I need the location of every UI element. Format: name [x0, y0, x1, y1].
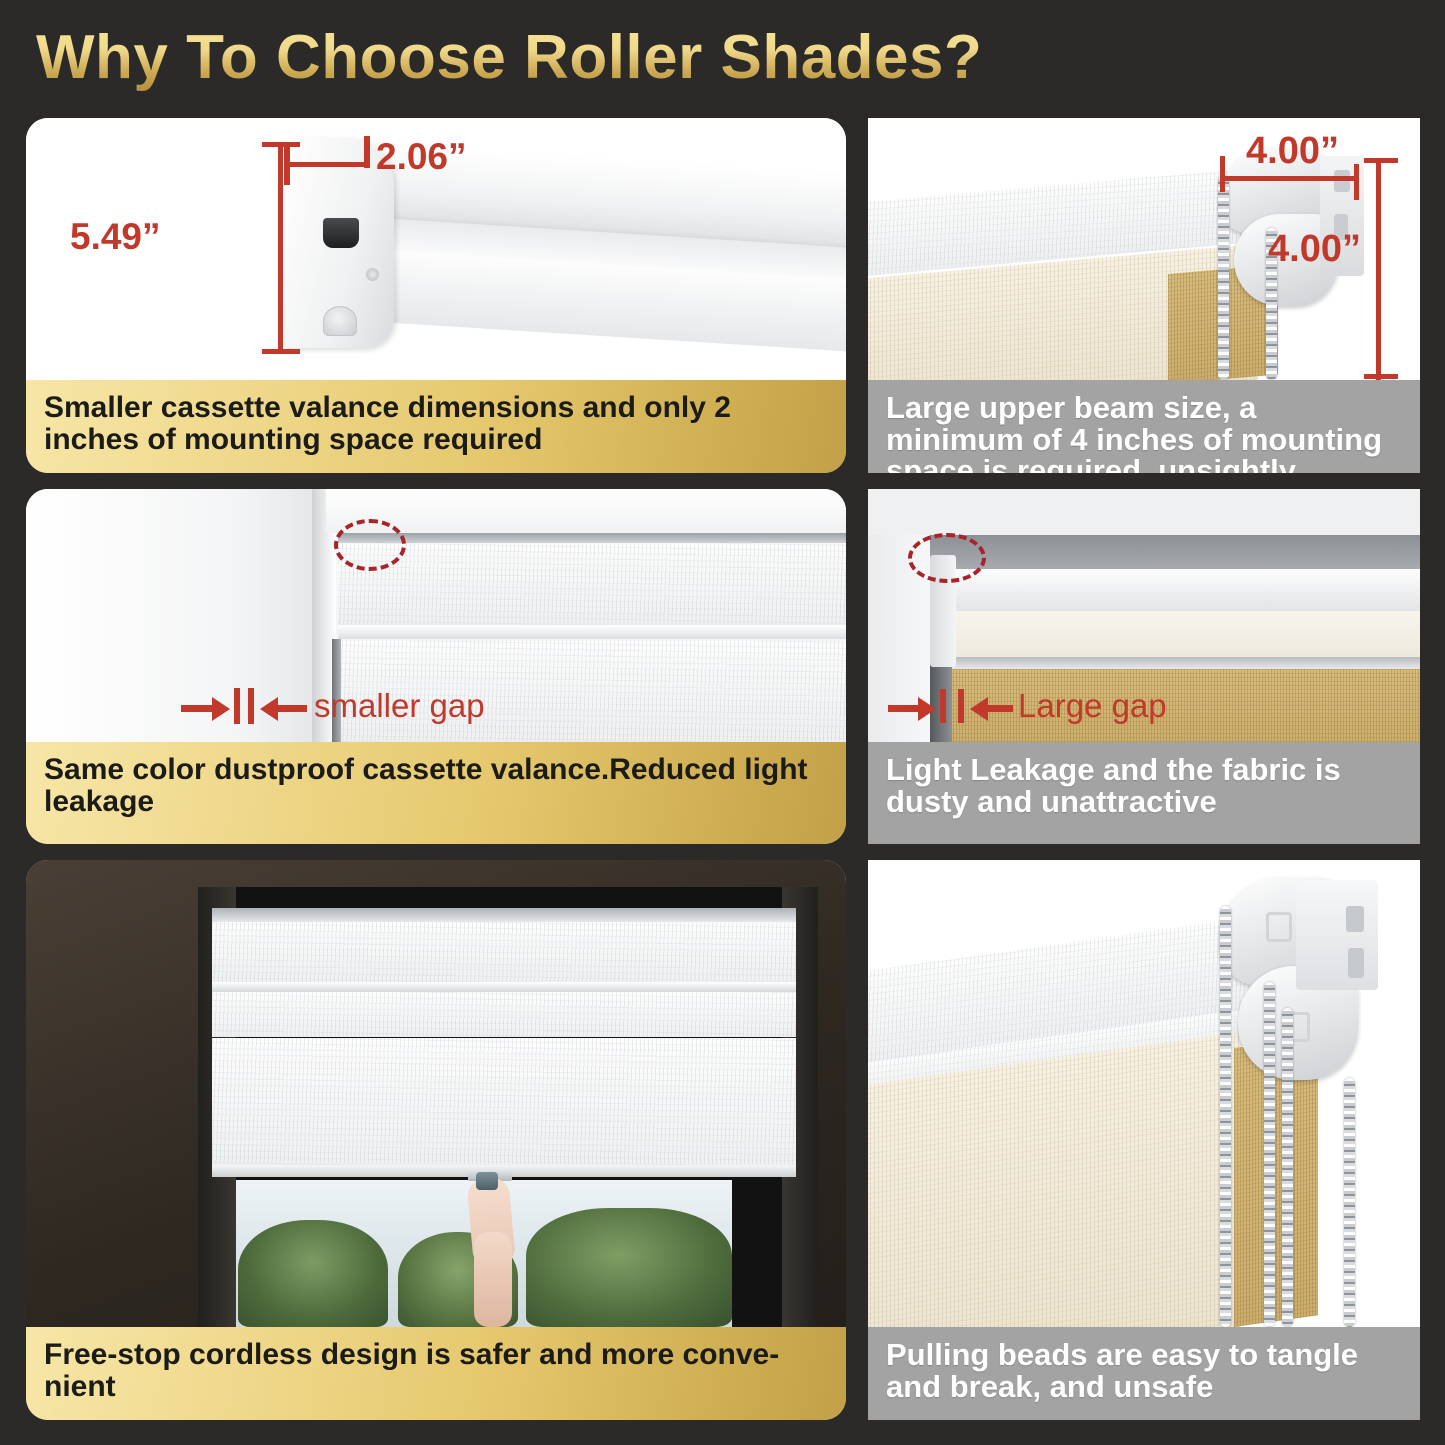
- valance-band: [926, 611, 1420, 659]
- large-gap-arrow-right-shaft: [987, 705, 1013, 712]
- shade-fabric-front: [868, 1032, 1240, 1327]
- gap-arrow-right-head: [260, 697, 278, 721]
- bead-chain-3: [1282, 1008, 1293, 1327]
- panel-2-caption: Large upper beam size, a minimum of 4 in…: [868, 380, 1420, 473]
- dim-label-2-06: 2.06”: [376, 136, 467, 178]
- panel-4-light-leakage: Large gap Light Leakage and the fabric i…: [868, 489, 1420, 844]
- panel-6-photo: [868, 860, 1420, 1327]
- cassette-bottom-lip: [338, 625, 846, 639]
- large-gap-label: Large gap: [1018, 687, 1167, 725]
- panel-3-photo: smaller gap: [26, 489, 846, 742]
- gap-marker-1: [234, 688, 240, 724]
- dim-line-549: [278, 142, 283, 354]
- bracket-slot-1: [1334, 170, 1350, 192]
- tree-right: [526, 1208, 732, 1327]
- large-gap-arrow-left-shaft: [888, 705, 920, 712]
- panel-4-photo: Large gap: [868, 489, 1420, 742]
- panel-5-caption: Free-stop cordless design is safer and m…: [26, 1327, 846, 1420]
- bracket-mounting-plate: [1296, 880, 1378, 990]
- dim-line-400v: [1376, 158, 1381, 380]
- panel-3-dustproof-cassette: smaller gap Same color dustproof cassett…: [26, 489, 846, 844]
- hand-forearm: [474, 1232, 512, 1327]
- gap-arrow-left-shaft: [181, 705, 215, 712]
- window-header-trim: [326, 489, 846, 533]
- dim-tick-right-400h: [1354, 164, 1359, 200]
- dim-label-4-00-horizontal: 4.00”: [1246, 130, 1339, 173]
- bottom-rail-edge: [926, 657, 1420, 669]
- large-gap-highlight-circle: [908, 533, 986, 583]
- bracket-icon-up: [1266, 912, 1292, 942]
- large-gap-marker-2: [958, 689, 964, 723]
- panel-1-caption: Smaller cassette valance dimensions and …: [26, 380, 846, 473]
- bracket-slot-2: [1348, 948, 1364, 978]
- large-gap-arrow-left-head: [918, 697, 936, 721]
- panel-3-caption: Same color dustproof cassette valance.Re…: [26, 742, 846, 844]
- dim-tick-bottom-549: [262, 349, 300, 354]
- dim-label-4-00-vertical: 4.00”: [1268, 228, 1361, 271]
- pull-tab: [476, 1172, 498, 1190]
- shade-body: [212, 1038, 796, 1175]
- dim-tick-left-400h: [1220, 156, 1225, 192]
- smaller-gap-label: smaller gap: [314, 687, 485, 725]
- panel-1-photo: 2.06” 5.49”: [26, 118, 846, 380]
- panel-6-pulling-beads: Pulling beads are easy to tangle and bre…: [868, 860, 1420, 1420]
- gap-arrow-left-head: [212, 697, 230, 721]
- gap-marker-2: [248, 688, 254, 724]
- panel-4-caption: Light Leakage and the fabric is dusty an…: [868, 742, 1420, 844]
- dim-tick-right-206: [364, 136, 370, 168]
- cassette-valance-face: [338, 543, 846, 627]
- large-gap-arrow-right-head: [970, 697, 988, 721]
- wall-above-window: [868, 489, 1420, 535]
- panel-1-smaller-cassette: 2.06” 5.49” Smaller cassette valance dim…: [26, 118, 846, 473]
- gap-arrow-right-shaft: [277, 705, 307, 712]
- dim-tick-top-549: [262, 142, 300, 147]
- shade-valance: [212, 922, 796, 984]
- dim-line-400h: [1220, 176, 1358, 181]
- panel-5-cordless-design: Free-stop cordless design is safer and m…: [26, 860, 846, 1420]
- valance-lip: [212, 982, 796, 992]
- panel-5-photo: [26, 860, 846, 1327]
- bead-chain-4: [1344, 1078, 1355, 1327]
- dim-line-206: [284, 162, 370, 167]
- panel-2-photo: 4.00” 4.00”: [868, 118, 1420, 380]
- bead-chain-1: [1218, 176, 1229, 380]
- end-cap-screw-boss: [323, 306, 357, 336]
- large-gap-marker-1: [940, 689, 946, 723]
- panel-2-large-beam: 4.00” 4.00” Large upper beam size, a min…: [868, 118, 1420, 473]
- bead-chain-2: [1264, 982, 1275, 1327]
- tree-left: [238, 1220, 388, 1327]
- dim-tick-bottom-400v: [1364, 374, 1398, 379]
- page-title: Why To Choose Roller Shades?: [36, 22, 982, 93]
- dim-tick-top-400v: [1364, 158, 1398, 163]
- upper-beam-shadow: [926, 535, 1420, 573]
- shade-headrail-top: [212, 908, 796, 922]
- bracket-slot-1: [1346, 906, 1364, 932]
- valance-lower-band: [212, 992, 796, 1037]
- cassette-top-edge: [338, 533, 846, 543]
- infographic-root: Why To Choose Roller Shades? 2.06” 5.49”: [0, 0, 1445, 1445]
- upper-beam-face: [926, 569, 1420, 615]
- tight-fit-highlight-circle: [334, 519, 406, 571]
- end-cap-screw: [366, 268, 379, 281]
- bead-chain-1: [1220, 906, 1231, 1327]
- dim-label-5-49: 5.49”: [70, 216, 161, 258]
- panel-6-caption: Pulling beads are easy to tangle and bre…: [868, 1327, 1420, 1420]
- end-cap-slot: [323, 218, 359, 248]
